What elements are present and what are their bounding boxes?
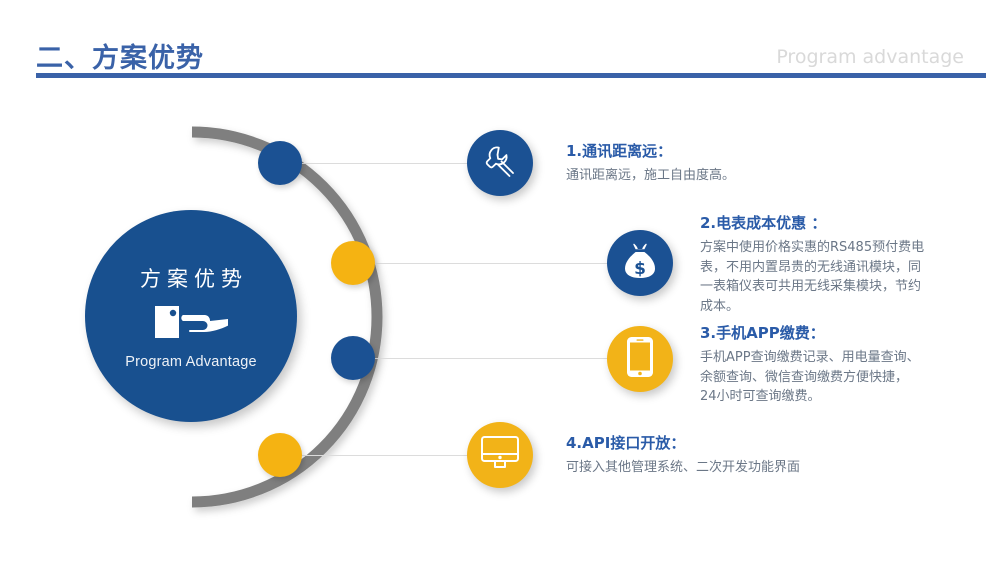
arc-node-1[interactable] (258, 141, 302, 185)
center-circle: 方案优势 Program Advantage (85, 210, 297, 422)
money-bag-icon: $ (622, 242, 658, 285)
connector-line-4 (292, 455, 474, 456)
center-title-en: Program Advantage (125, 354, 257, 370)
header-subtitle: Program advantage (776, 46, 964, 68)
svg-text:$: $ (634, 259, 646, 279)
wrench-icon (482, 143, 518, 184)
item-text-2: 2.电表成本优惠 ： 方案中使用价格实惠的RS485预付费电 表，不用内置昂贵的… (700, 212, 1000, 316)
hand-card-icon (154, 305, 228, 344)
center-title-cn: 方案优势 (134, 263, 248, 293)
item-heading-4: 4.API接口开放： (566, 432, 986, 453)
smartphone-icon (626, 336, 654, 383)
item-text-3: 3.手机APP缴费： 手机APP查询缴费记录、用电量查询、 余额查询、微信查询缴… (700, 322, 1000, 407)
item-body-3: 手机APP查询缴费记录、用电量查询、 余额查询、微信查询缴费方便快捷， 24小时… (700, 348, 1000, 407)
item-body-4: 可接入其他管理系统、二次开发功能界面 (566, 458, 986, 478)
item-body-2: 方案中使用价格实惠的RS485预付费电 表，不用内置昂贵的无线通讯模块，同 一表… (700, 238, 1000, 316)
title-underline-rule (36, 73, 986, 78)
arc-node-4[interactable] (258, 433, 302, 477)
connector-line-1 (292, 163, 474, 164)
item-heading-3: 3.手机APP缴费： (700, 322, 1000, 343)
item-heading-1: 1.通讯距离远： (566, 140, 966, 161)
icon-bubble-4[interactable] (467, 422, 533, 488)
slide-header: 二、方案优势 Program advantage (0, 0, 1000, 100)
icon-bubble-2[interactable]: $ (607, 230, 673, 296)
item-text-4: 4.API接口开放： 可接入其他管理系统、二次开发功能界面 (566, 432, 986, 478)
connector-line-2 (365, 263, 615, 264)
arc-node-3[interactable] (331, 336, 375, 380)
page-title: 二、方案优势 (36, 36, 204, 75)
connector-line-3 (365, 358, 615, 359)
icon-bubble-1[interactable] (467, 130, 533, 196)
arc-node-2[interactable] (331, 241, 375, 285)
item-text-1: 1.通讯距离远： 通讯距离远，施工自由度高。 (566, 140, 966, 186)
item-body-1: 通讯距离远，施工自由度高。 (566, 166, 966, 186)
monitor-icon (480, 435, 520, 476)
advantage-diagram: 方案优势 Program Advantage 1.通讯距离远： 通讯距离远，施工… (0, 100, 1000, 563)
icon-bubble-3[interactable] (607, 326, 673, 392)
item-heading-2: 2.电表成本优惠 ： (700, 212, 1000, 233)
